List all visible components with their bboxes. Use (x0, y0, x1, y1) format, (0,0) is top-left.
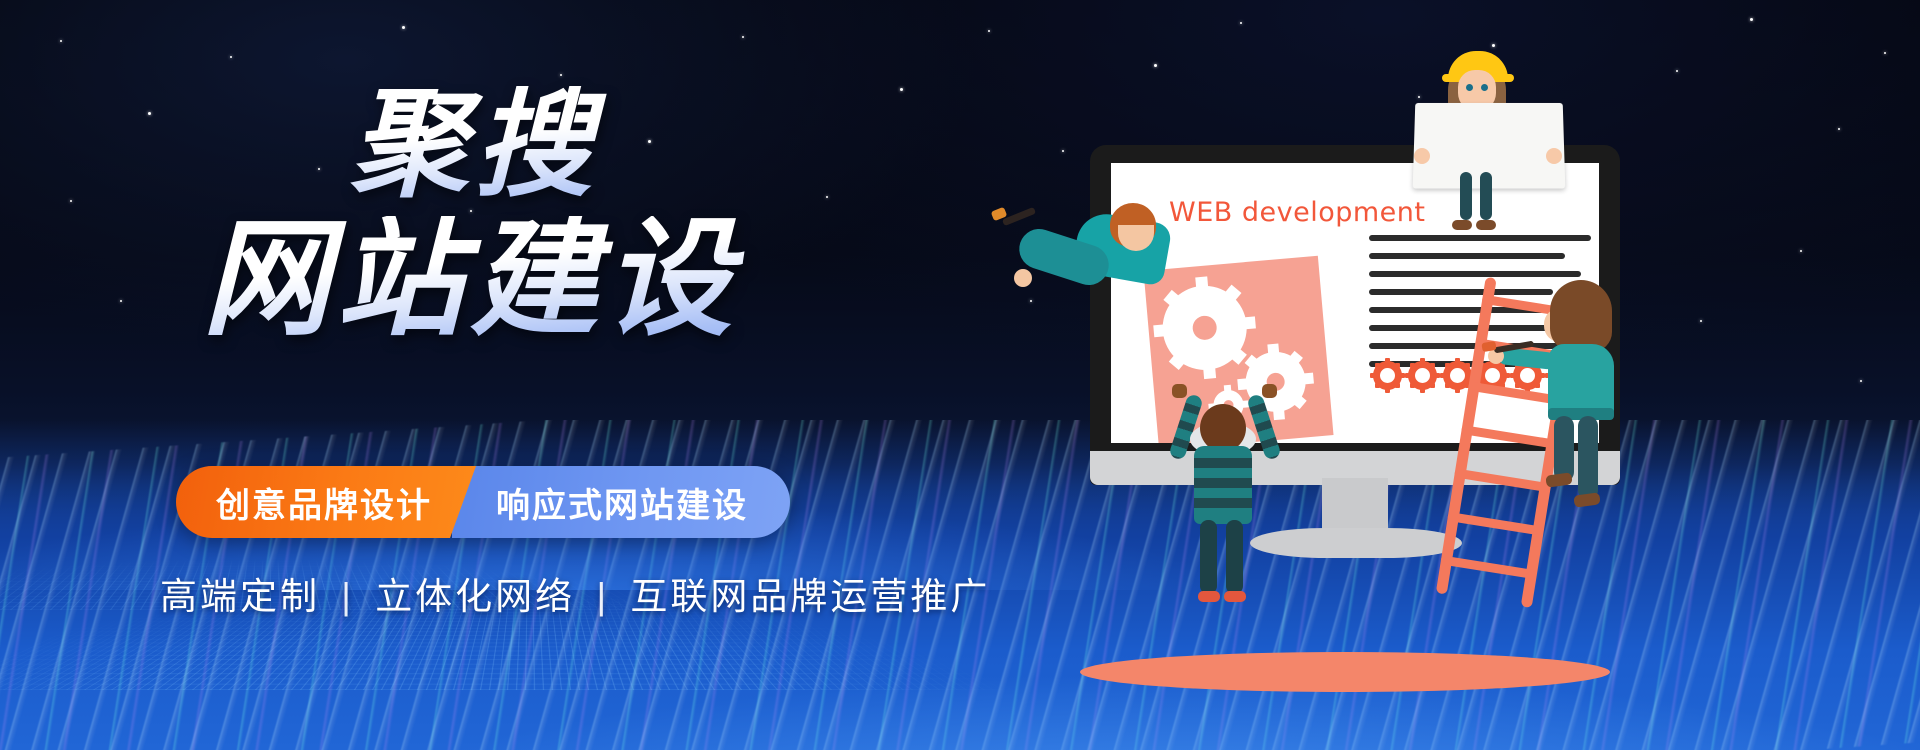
kid-arm-right (1246, 393, 1282, 461)
feature-badge-group: 创意品牌设计 响应式网站建设 (176, 466, 790, 538)
climber-hair (1550, 280, 1612, 352)
ground-ellipse (1080, 652, 1610, 692)
hardhat-woman-legs (1456, 172, 1510, 230)
character-leaning-designer (1010, 195, 1200, 325)
kid-head (1200, 404, 1246, 452)
hero-banner: 聚搜 网站建设 创意品牌设计 响应式网站建设 高端定制 | 立体化网络 | 互联… (0, 0, 1920, 750)
orange-gear (1408, 361, 1437, 390)
tagline-separator-2: | (596, 576, 609, 617)
orange-gear (1373, 361, 1402, 390)
climber-legs (1544, 416, 1624, 516)
page-title-line-2: 网站建设 (202, 216, 890, 344)
tagline-item-2: 立体化网络 (375, 576, 575, 617)
kid-striped-shirt (1194, 446, 1252, 524)
page-title-line-1: 聚搜 (350, 86, 890, 204)
text-line (1369, 253, 1565, 259)
tagline-item-3: 互联网品牌运营推广 (630, 576, 990, 617)
kid-hand-right (1262, 384, 1277, 398)
web-development-illustration: WEB development (1090, 40, 1730, 730)
text-line (1369, 271, 1581, 277)
leaning-designer-hand (1014, 269, 1032, 287)
text-line (1369, 235, 1591, 241)
kid-legs (1200, 520, 1248, 602)
badge-responsive-web-build[interactable]: 响应式网站建设 (452, 466, 790, 538)
monitor-base (1250, 528, 1462, 558)
badge-creative-brand-design[interactable]: 创意品牌设计 (176, 466, 476, 538)
hardhat-woman-hand-left (1414, 148, 1430, 164)
character-ladder-climber (1528, 280, 1658, 510)
hero-copy-block: 聚搜 网站建设 (150, 86, 890, 344)
character-kid-with-poster (1170, 370, 1280, 600)
tagline-separator-1: | (341, 576, 354, 617)
hardhat-woman-hand-right (1546, 148, 1562, 164)
screen-heading-web-development: WEB development (1169, 197, 1425, 228)
kid-hand-left (1172, 384, 1187, 398)
tagline: 高端定制 | 立体化网络 | 互联网品牌运营推广 (160, 566, 990, 620)
tagline-item-1: 高端定制 (160, 576, 320, 617)
character-hardhat-woman (1420, 40, 1550, 190)
